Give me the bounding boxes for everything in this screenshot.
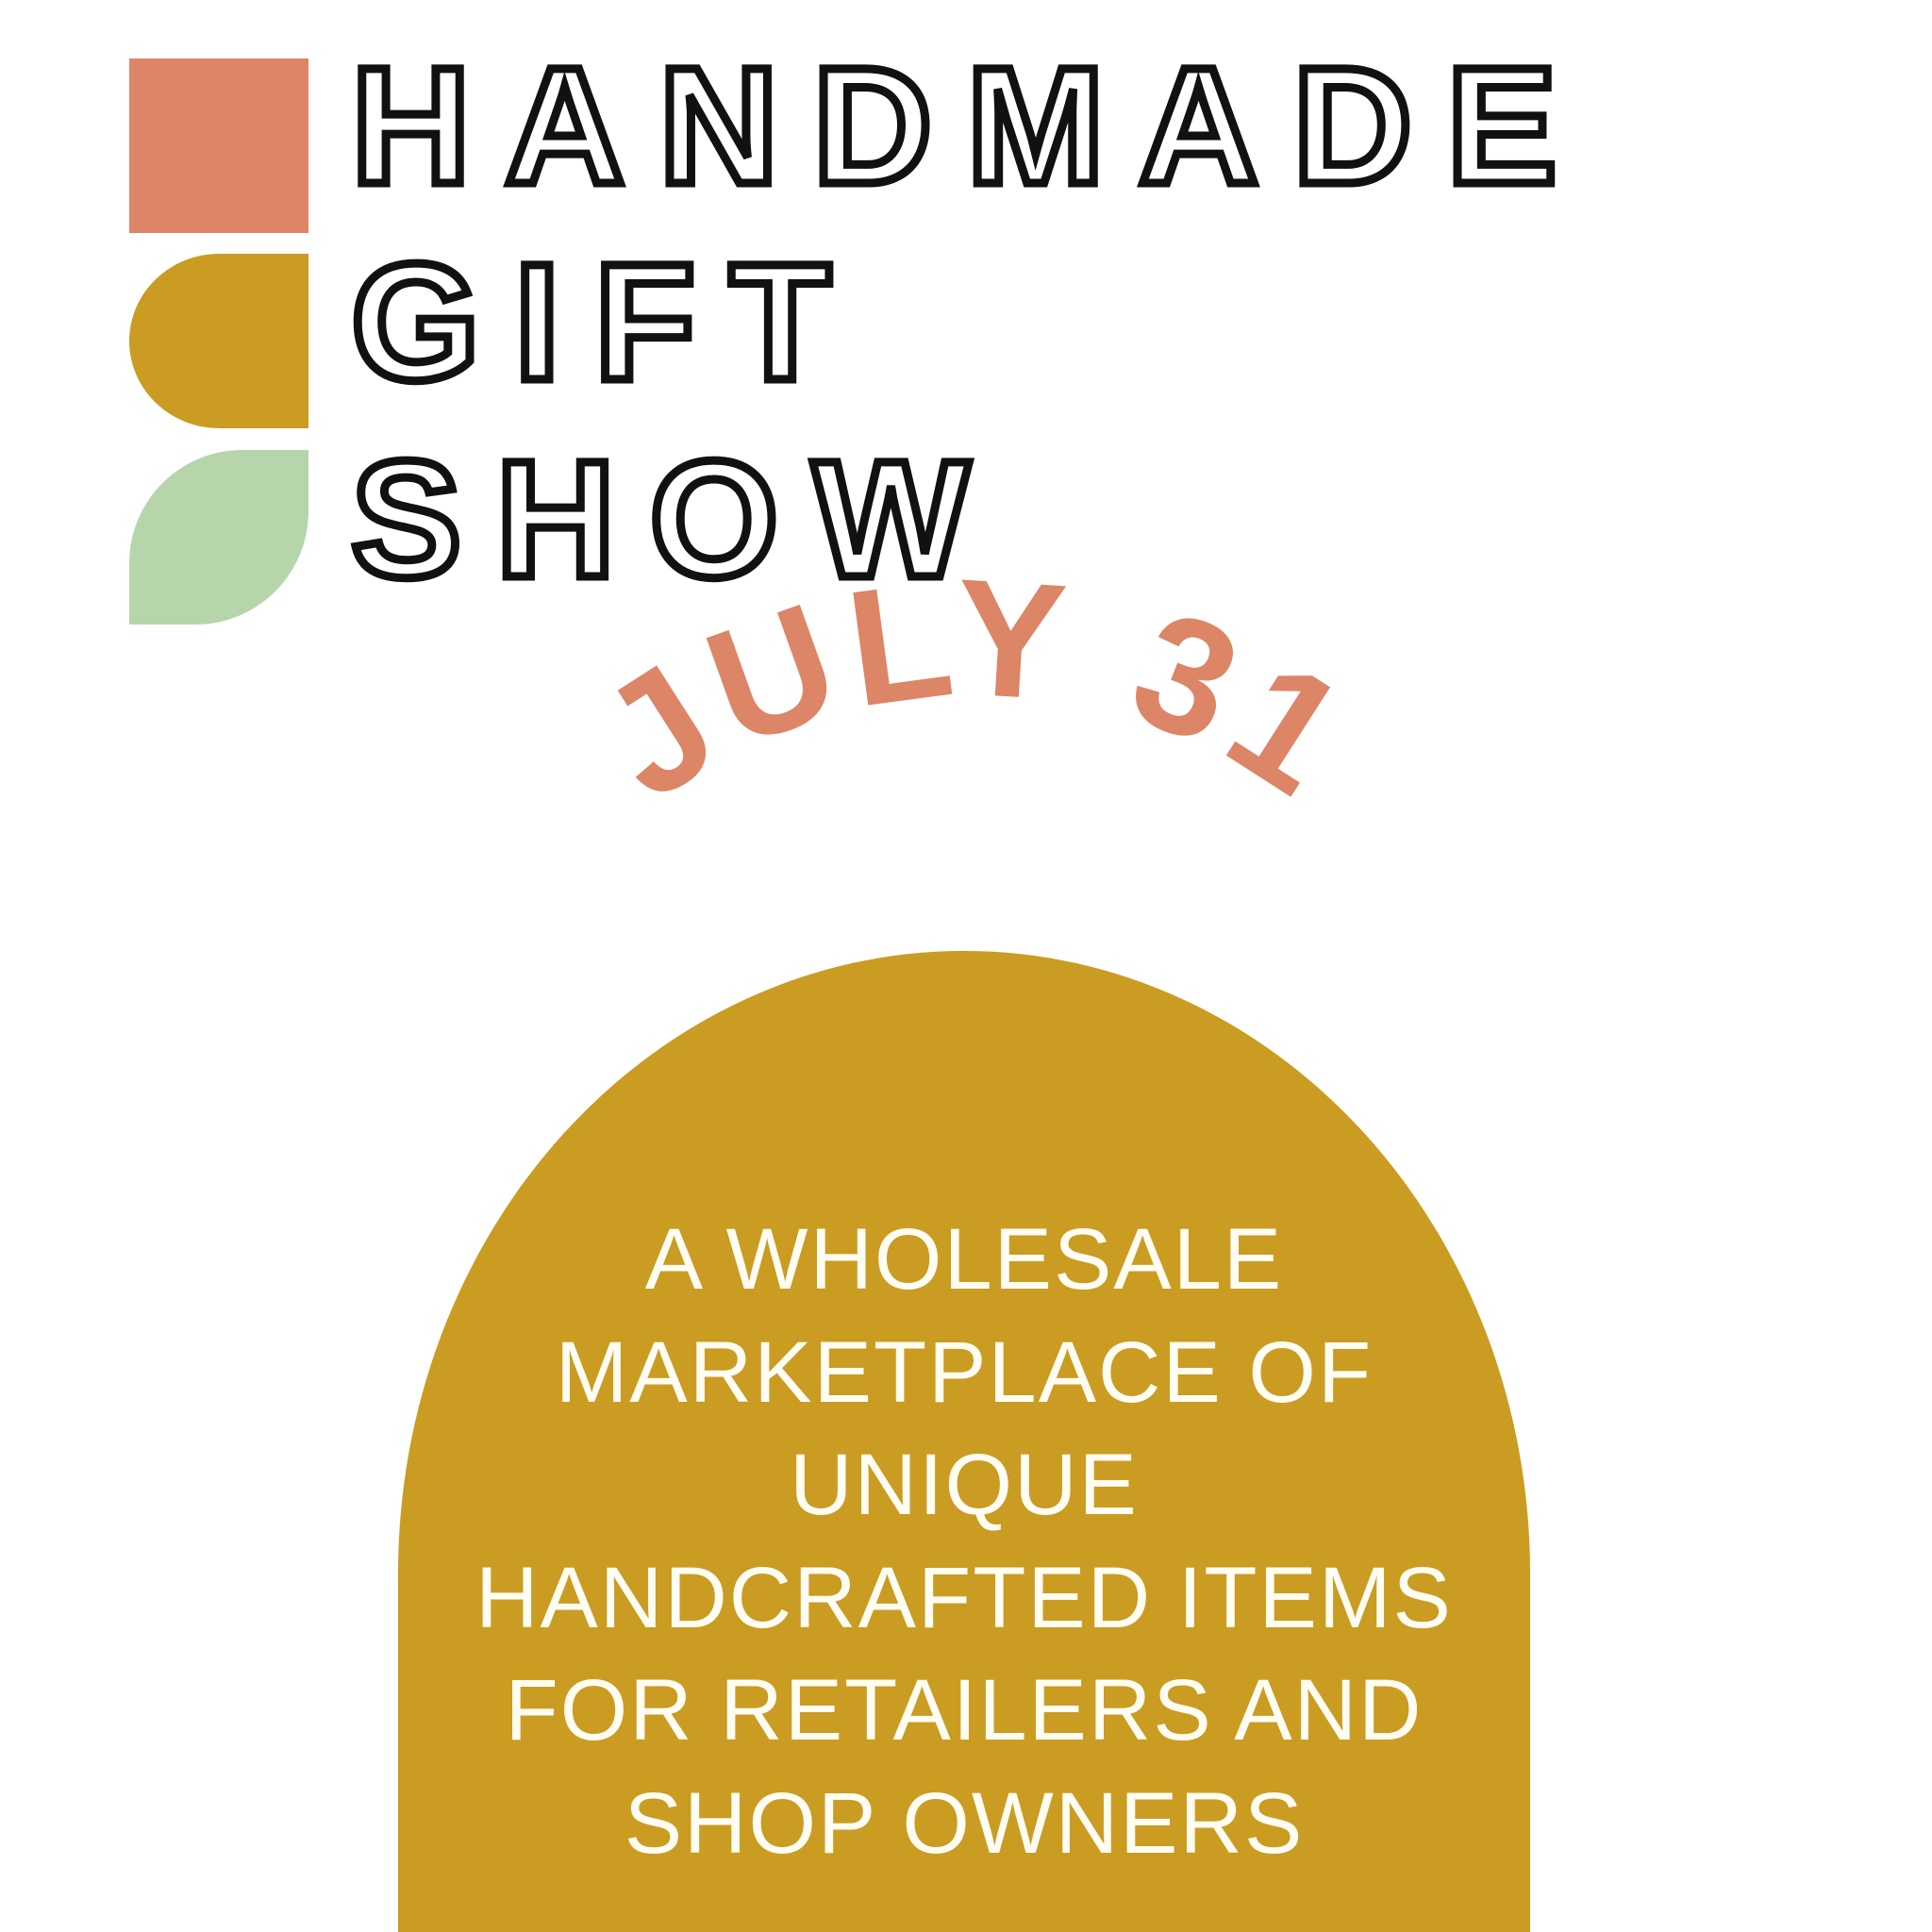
- event-date-arched: JULY 31: [0, 675, 1932, 987]
- dome-line-5: FOR RETAILERS AND: [436, 1655, 1492, 1768]
- dome-description-block: A WHOLESALE MARKETPLACE OF UNIQUE HANDCR…: [436, 1204, 1492, 1881]
- headline-line-handmade: HANDMADE: [351, 45, 1898, 208]
- brand-logo-mark: [129, 58, 308, 625]
- poster-canvas: HANDMADE GIFT SHOW JULY 31 A WHOLESALE M…: [0, 0, 1932, 1932]
- logo-square-shape-icon: [129, 58, 308, 233]
- headline-line-gift: GIFT: [351, 241, 1898, 404]
- dome-line-6: SHOP OWNERS: [436, 1768, 1492, 1881]
- dome-line-4: HANDCRAFTED ITEMS: [436, 1542, 1492, 1656]
- logo-half-pill-shape-icon: [129, 254, 308, 428]
- dome-line-2: MARKETPLACE OF: [436, 1317, 1492, 1430]
- logo-leaf-shape-icon: [129, 450, 308, 625]
- brand-headline: HANDMADE GIFT SHOW: [351, 45, 1898, 601]
- headline-line-show: SHOW: [351, 439, 1898, 601]
- gold-arch-panel: A WHOLESALE MARKETPLACE OF UNIQUE HANDCR…: [398, 951, 1530, 1932]
- dome-line-3: UNIQUE: [436, 1429, 1492, 1542]
- dome-line-1: A WHOLESALE: [436, 1204, 1492, 1317]
